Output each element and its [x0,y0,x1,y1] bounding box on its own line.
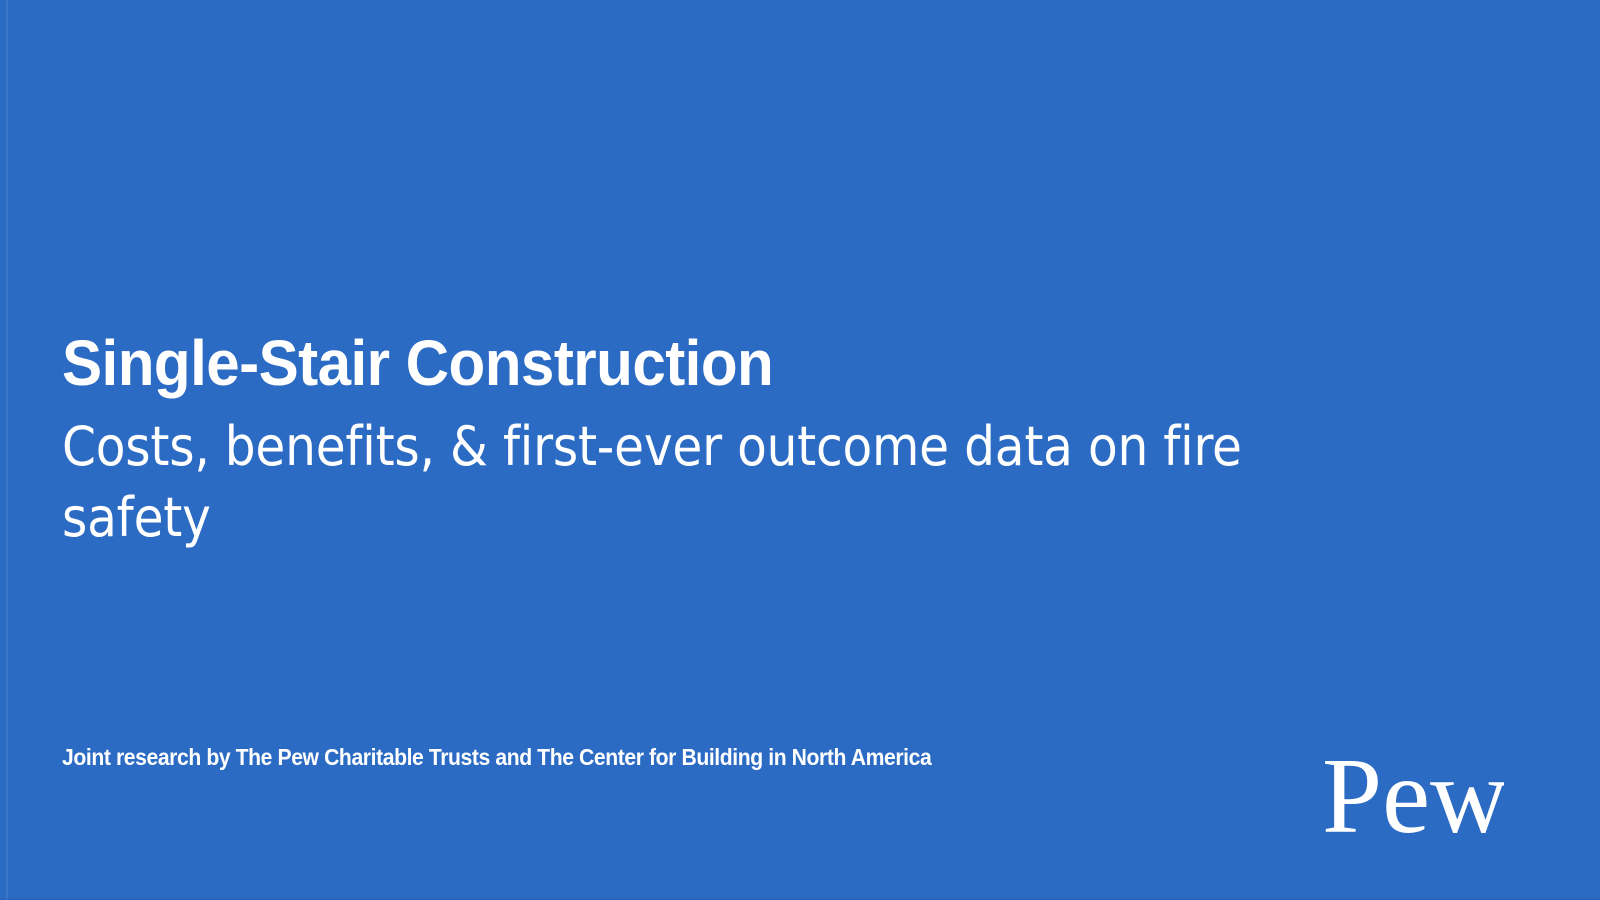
left-edge-seam [6,0,8,900]
pew-logo: Pew [1322,748,1504,844]
attribution-line: Joint research by The Pew Charitable Tru… [62,744,931,772]
page-title: Single-Stair Construction [62,330,1284,397]
page-subtitle: Costs, benefits, & first-ever outcome da… [62,411,1297,555]
pew-wordmark-text: Pew [1322,748,1504,844]
title-slide: Single-Stair Construction Costs, benefit… [0,0,1600,900]
title-block: Single-Stair Construction Costs, benefit… [62,330,1362,554]
